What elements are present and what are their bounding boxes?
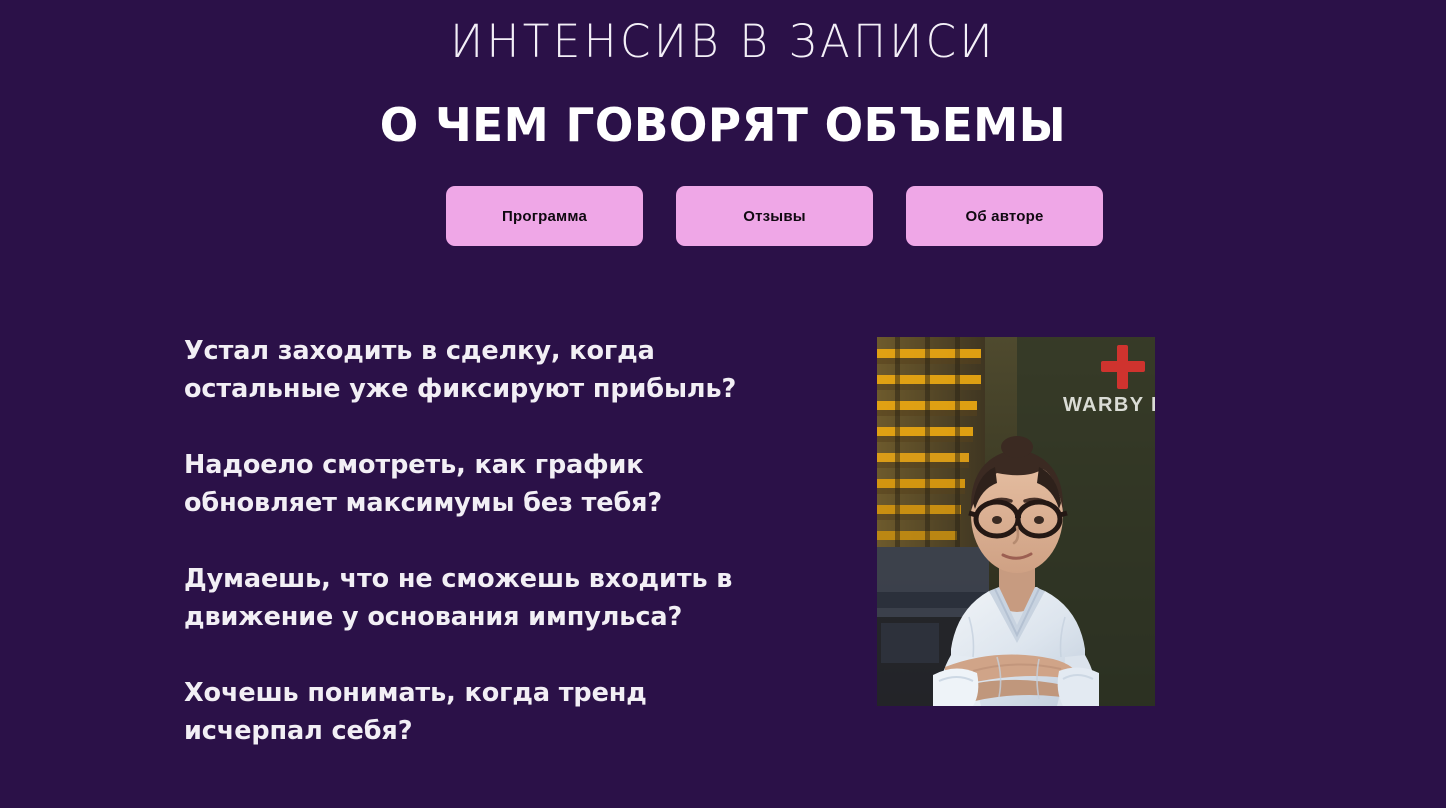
body-copy: Устал заходить в сделку, когда остальные…	[184, 332, 804, 750]
author-photo: WARBY PA	[877, 337, 1155, 706]
nav-button-about-author[interactable]: Об авторе	[906, 186, 1103, 246]
nav-button-row: Программа Отзывы Об авторе	[446, 186, 1103, 246]
page-eyebrow: ИНТЕНСИВ В ЗАПИСИ	[22, 14, 1425, 70]
page-title: О ЧЕМ ГОВОРЯТ ОБЪЕМЫ	[11, 96, 1435, 154]
nav-button-program[interactable]: Программа	[446, 186, 643, 246]
copy-paragraph-1: Устал заходить в сделку, когда остальные…	[184, 332, 804, 408]
copy-paragraph-3: Думаешь, что не сможешь входить в движен…	[184, 560, 804, 636]
copy-paragraph-4: Хочешь понимать, когда тренд исчерпал се…	[184, 674, 804, 750]
author-photo-illustration: WARBY PA	[877, 337, 1155, 706]
copy-paragraph-2: Надоело смотреть, как график обновляет м…	[184, 446, 804, 522]
store-sign-text: WARBY PA	[1063, 394, 1155, 416]
landing-page: ИНТЕНСИВ В ЗАПИСИ О ЧЕМ ГОВОРЯТ ОБЪЕМЫ П…	[0, 0, 1446, 808]
nav-button-reviews[interactable]: Отзывы	[676, 186, 873, 246]
